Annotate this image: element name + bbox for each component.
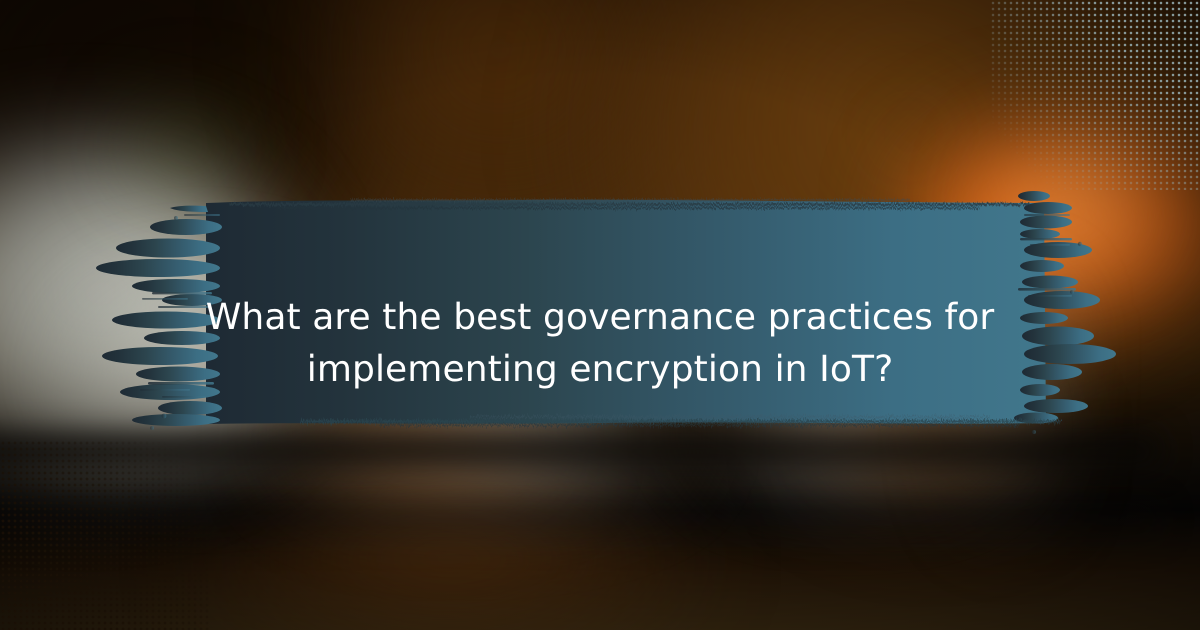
brush-top-texture bbox=[230, 199, 1030, 209]
headline-line-2: implementing encryption in IoT? bbox=[0, 344, 1200, 396]
social-card: What are the best governance practices f… bbox=[0, 0, 1200, 630]
headline-line-1: What are the best governance practices f… bbox=[0, 292, 1200, 344]
page-title: What are the best governance practices f… bbox=[0, 292, 1200, 396]
